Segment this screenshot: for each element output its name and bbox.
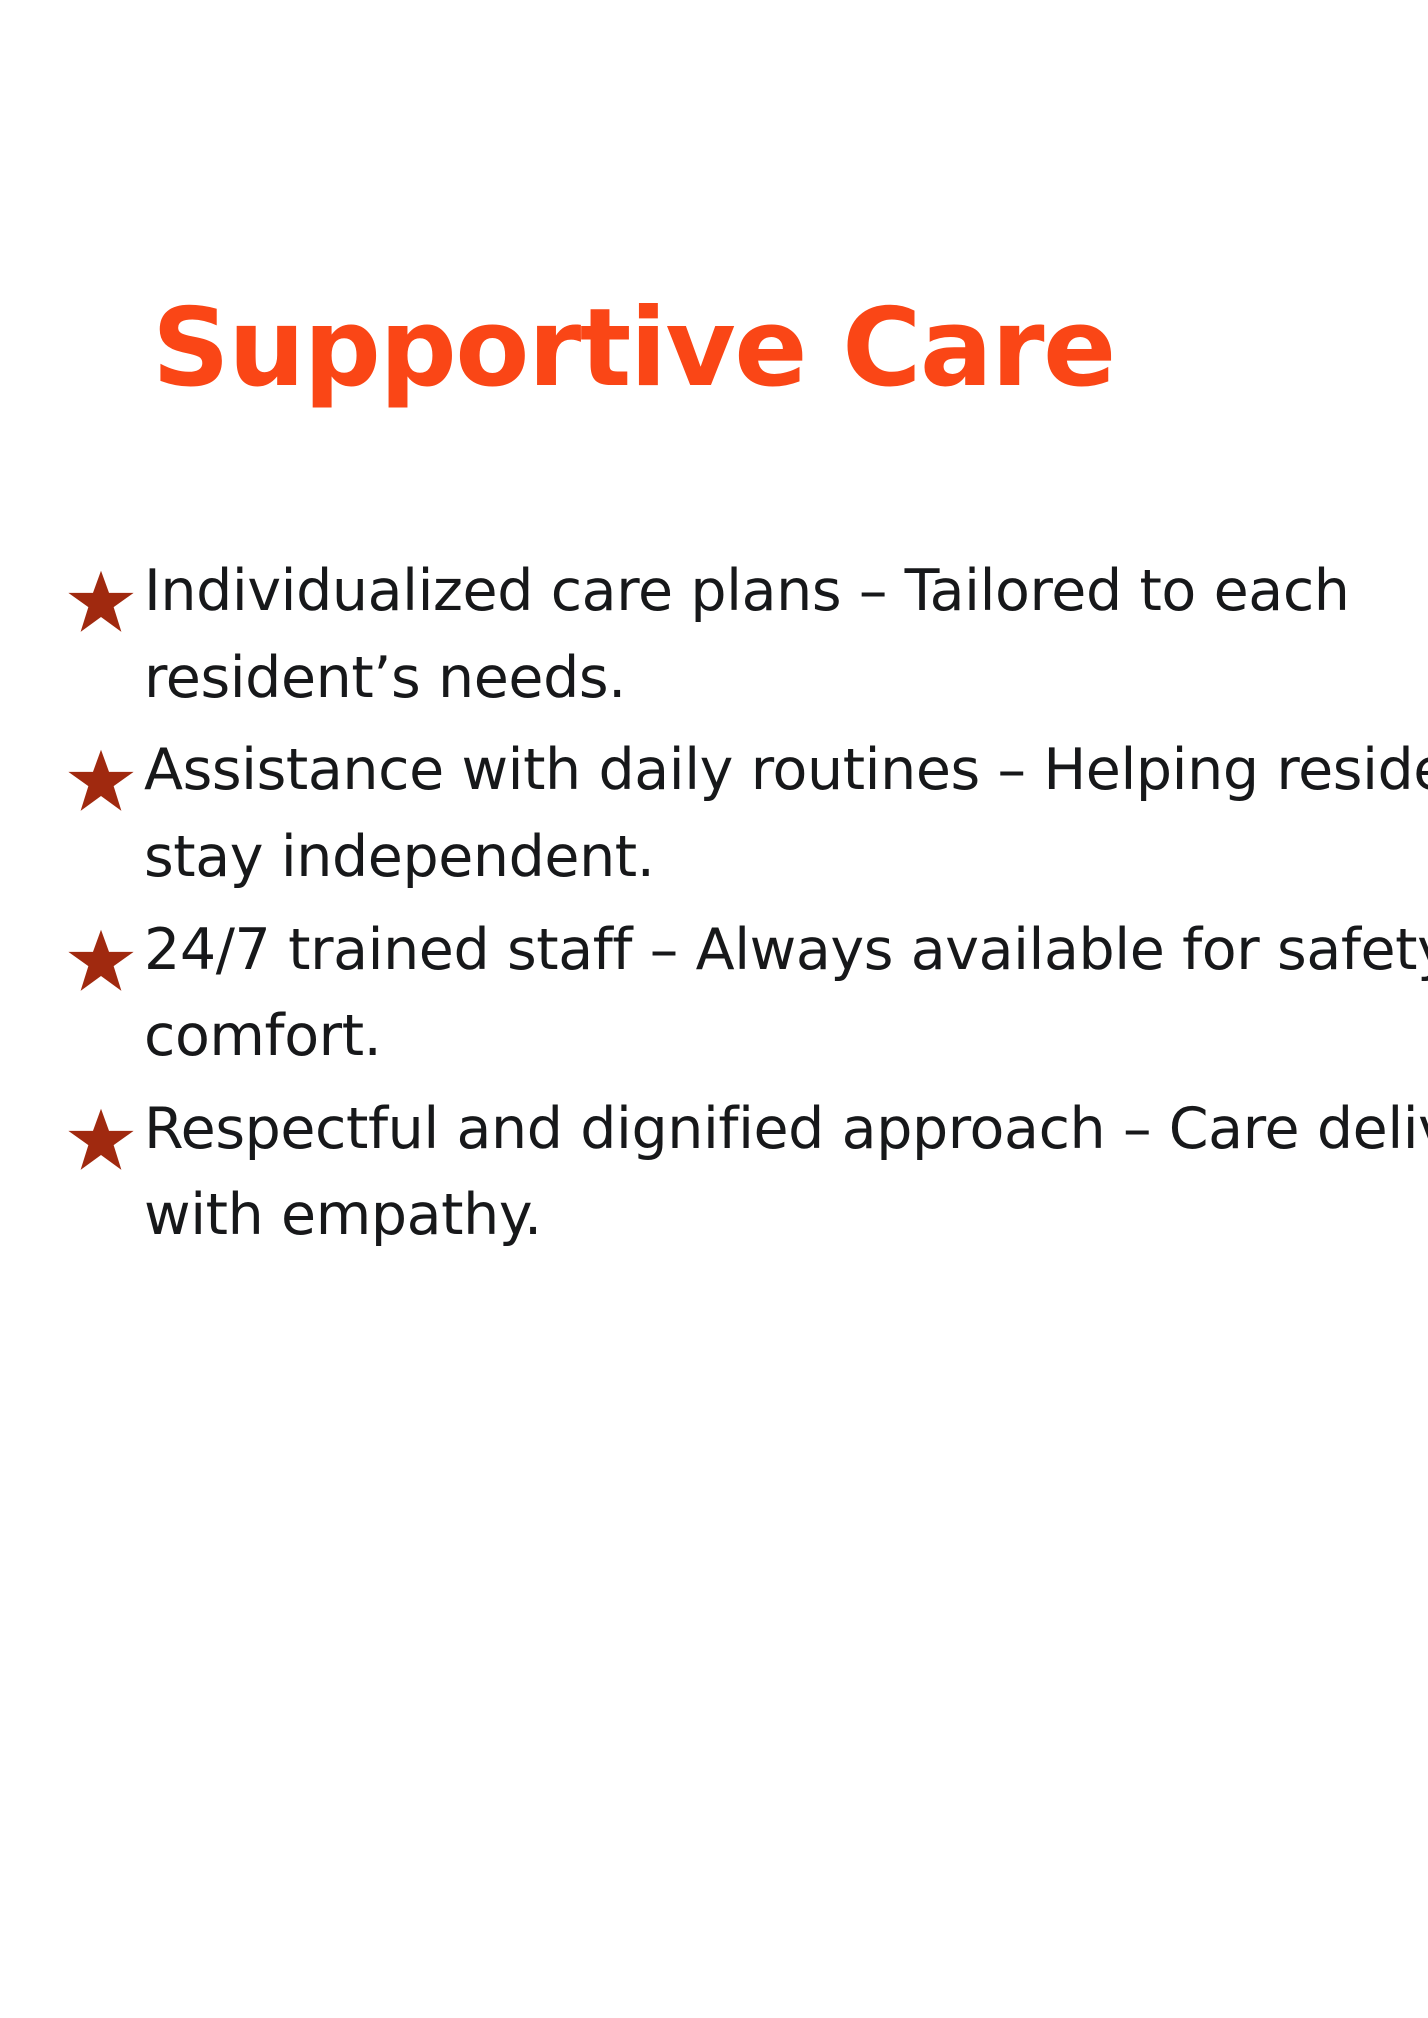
- list-item: Individualized care plans – Tailored to …: [58, 548, 1428, 721]
- list-item: 24/7 trained staff – Always available fo…: [58, 907, 1428, 1080]
- title-block: Supportive Care: [152, 286, 1428, 411]
- list-item: Assistance with daily routines – Helping…: [58, 727, 1428, 900]
- bullet-list: Individualized care plans – Tailored to …: [58, 548, 1428, 1265]
- list-item-label: Individualized care plans – Tailored to …: [144, 548, 1428, 721]
- slide-canvas: Supportive Care Individualized care plan…: [0, 0, 1428, 2018]
- page-title: Supportive Care: [152, 286, 1428, 411]
- star-icon: [58, 907, 144, 1003]
- star-icon: [58, 548, 144, 644]
- list-item-label: Assistance with daily routines – Helping…: [144, 727, 1428, 900]
- star-icon: [58, 1086, 144, 1182]
- list-item-label: Respectful and dignified approach – Care…: [144, 1086, 1428, 1259]
- list-item: Respectful and dignified approach – Care…: [58, 1086, 1428, 1259]
- star-icon: [58, 727, 144, 823]
- list-item-label: 24/7 trained staff – Always available fo…: [144, 907, 1428, 1080]
